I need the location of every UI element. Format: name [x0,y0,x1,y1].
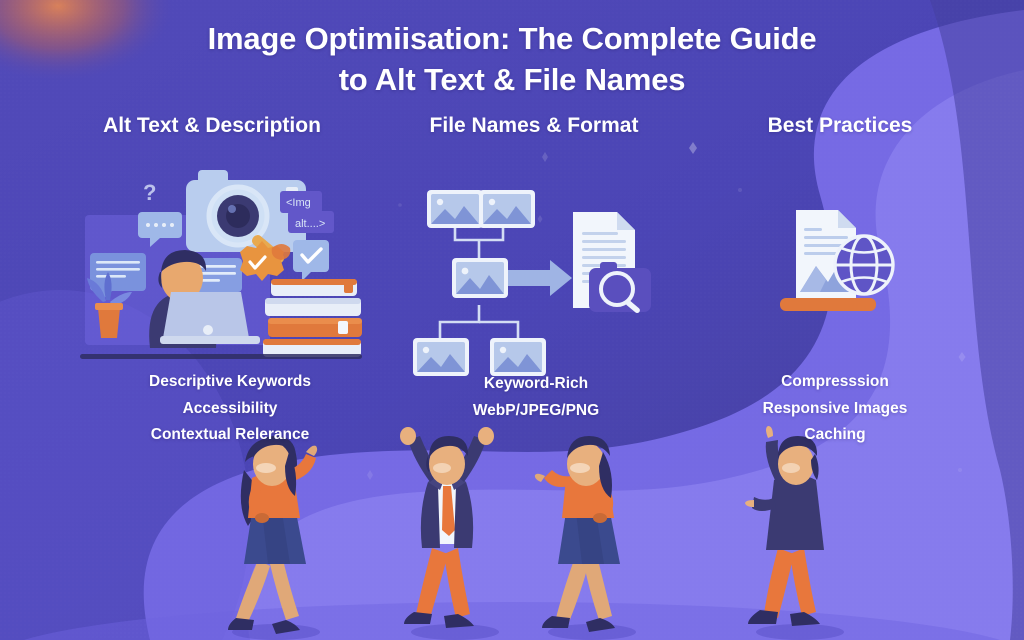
column-caption-alt-text: Descriptive Keywords Accessibility Conte… [80,369,380,449]
caption-line: WebP/JPEG/PNG [396,398,676,425]
caption-line: Contextual Relerance [80,422,380,449]
caption-line: Accessibility [80,396,380,423]
caption-line: Descriptive Keywords [80,369,380,396]
page-title-line1: Image Optimiisation: The Complete Guide [208,21,817,56]
caption-line: Keyword-Rich [396,371,676,398]
caption-line: Compresssion [700,369,970,396]
column-caption-file-names: Keyword-Rich WebP/JPEG/PNG [396,371,676,424]
text-layer: Image Optimiisation: The Complete Guide … [0,0,1024,640]
column-heading-file-names: File Names & Format [378,114,690,138]
column-caption-best-practices: Compresssion Responsive Images Caching [700,369,970,449]
page-title-line2: to Alt Text & File Names [0,59,1024,100]
column-heading-best-practices: Best Practices [690,114,990,138]
caption-line: Responsive Images [700,396,970,423]
page-title: Image Optimiisation: The Complete Guide … [0,18,1024,100]
column-heading-alt-text: Alt Text & Description [56,114,368,138]
caption-line: Caching [700,422,970,449]
